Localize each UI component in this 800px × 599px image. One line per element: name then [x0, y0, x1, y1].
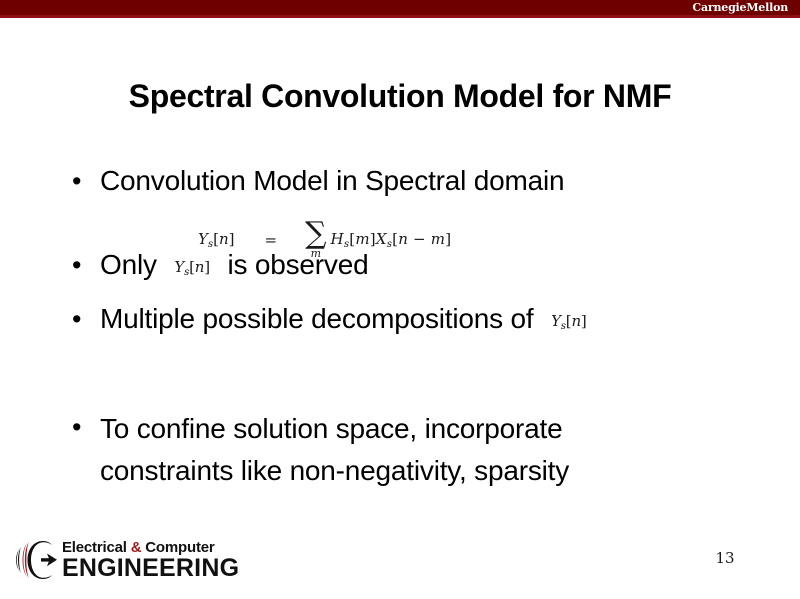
equation-relation: =	[265, 231, 278, 249]
ece-ampersand: &	[131, 539, 142, 556]
carnegie-mellon-logo: CarnegieMellon	[692, 1, 788, 15]
ece-wordmark: Electrical & Computer ENGINEERING	[62, 540, 239, 581]
list-item: • Multiple possible decompositions of Ys…	[66, 300, 766, 348]
inline-math-ys-n: Ys[n]	[164, 258, 220, 276]
bullet-text: Multiple possible decompositions of Ys[n…	[100, 300, 766, 348]
ece-electrical-text: Electrical	[62, 539, 131, 556]
page-title: Spectral Convolution Model for NMF	[0, 78, 800, 115]
list-item: • Convolution Model in Spectral domain	[66, 162, 766, 200]
slide: CarnegieMellon Spectral Convolution Mode…	[0, 0, 800, 599]
bullet-marker-icon: •	[66, 246, 100, 284]
bullet-list: • Convolution Model in Spectral domain •…	[66, 162, 766, 492]
equation-rhs: Hs[m]Xs[n − m]	[331, 230, 452, 250]
bullet-text-before: Multiple possible decompositions of	[100, 303, 533, 334]
bullet-text: Convolution Model in Spectral domain	[100, 162, 766, 200]
bullet-marker-icon: •	[66, 162, 100, 200]
ece-logo: Electrical & Computer ENGINEERING	[14, 537, 239, 583]
bullet-text-line2: constraints like non-negativity, sparsit…	[100, 455, 569, 486]
inline-math-ys-n: Ys[n]	[541, 312, 597, 330]
ece-computer-text: Computer	[141, 539, 214, 556]
header-bar	[0, 0, 800, 15]
display-equation: Ys[n] = ∑ m Hs[m]Xs[n − m]	[198, 220, 451, 259]
summation-symbol: ∑ m	[305, 221, 326, 260]
list-item: • To confine solution space, incorporate…	[66, 408, 766, 492]
bullet-marker-icon: •	[66, 408, 100, 446]
equation-lhs: Ys[n]	[198, 230, 235, 250]
ece-globe-icon	[14, 537, 58, 583]
ece-line-one: Electrical & Computer	[62, 540, 239, 555]
bullet-text: To confine solution space, incorporate c…	[100, 408, 766, 492]
bullet-marker-icon: •	[66, 300, 100, 338]
bullet-text-before: Only	[100, 249, 157, 280]
sigma-icon: ∑	[305, 221, 326, 247]
summation-index: m	[311, 248, 321, 260]
header-bar-accent-line	[0, 15, 800, 18]
bullet-text-line1: To confine solution space, incorporate	[100, 413, 562, 444]
ece-line-two: ENGINEERING	[62, 556, 239, 581]
page-number: 13	[710, 549, 740, 567]
